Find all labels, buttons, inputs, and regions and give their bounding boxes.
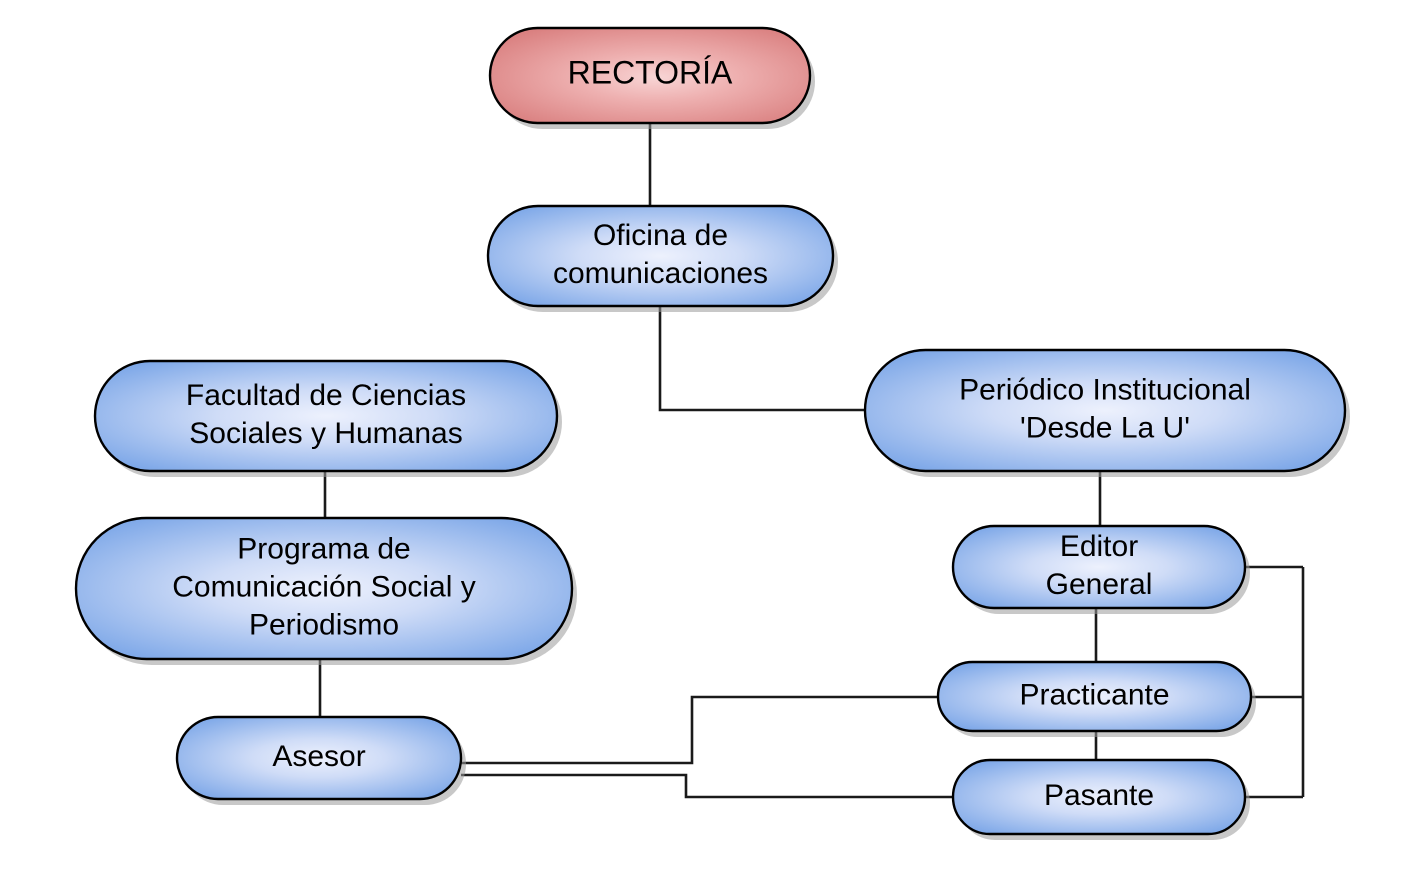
node-label-line: Editor: [1060, 530, 1138, 563]
node-label-line: 'Desde La U': [1020, 411, 1190, 444]
node-asesor[interactable]: Asesor: [177, 717, 466, 805]
node-label-line: Periodismo: [249, 608, 399, 641]
connector-asesor-pasante: [461, 775, 953, 797]
node-label-line: Facultad de Ciencias: [186, 379, 466, 412]
node-label-asesor: Asesor: [272, 740, 365, 773]
node-label-line: Periódico Institucional: [959, 373, 1251, 406]
node-label-line: Sociales y Humanas: [189, 417, 462, 450]
org-chart-canvas: RECTORÍAOficina decomunicacionesFacultad…: [0, 0, 1411, 893]
node-label-line: Practicante: [1019, 678, 1169, 711]
node-label-line: comunicaciones: [553, 257, 768, 290]
node-programa[interactable]: Programa deComunicación Social yPeriodis…: [76, 518, 577, 665]
node-practicante[interactable]: Practicante: [938, 662, 1256, 737]
node-label-line: Programa de: [237, 532, 410, 565]
node-oficina[interactable]: Oficina decomunicaciones: [488, 206, 838, 312]
node-rectoria[interactable]: RECTORÍA: [490, 28, 815, 129]
node-editor[interactable]: EditorGeneral: [953, 526, 1250, 614]
node-label-line: Asesor: [272, 740, 365, 773]
node-label-rectoria: RECTORÍA: [568, 55, 733, 91]
node-label-pasante: Pasante: [1044, 779, 1154, 812]
node-facultad[interactable]: Facultad de CienciasSociales y Humanas: [95, 361, 562, 477]
node-pasante[interactable]: Pasante: [953, 760, 1250, 840]
node-label-line: Oficina de: [593, 219, 728, 252]
node-label-line: General: [1046, 568, 1153, 601]
node-label-line: RECTORÍA: [568, 55, 733, 91]
node-periodico[interactable]: Periódico Institucional'Desde La U': [865, 350, 1350, 477]
nodes-group: RECTORÍAOficina decomunicacionesFacultad…: [76, 28, 1350, 840]
node-label-line: Comunicación Social y: [172, 570, 475, 603]
node-label-practicante: Practicante: [1019, 678, 1169, 711]
connector-oficina-periodico: [660, 306, 865, 410]
connector-asesor-practicante: [461, 697, 938, 763]
node-label-line: Pasante: [1044, 779, 1154, 812]
